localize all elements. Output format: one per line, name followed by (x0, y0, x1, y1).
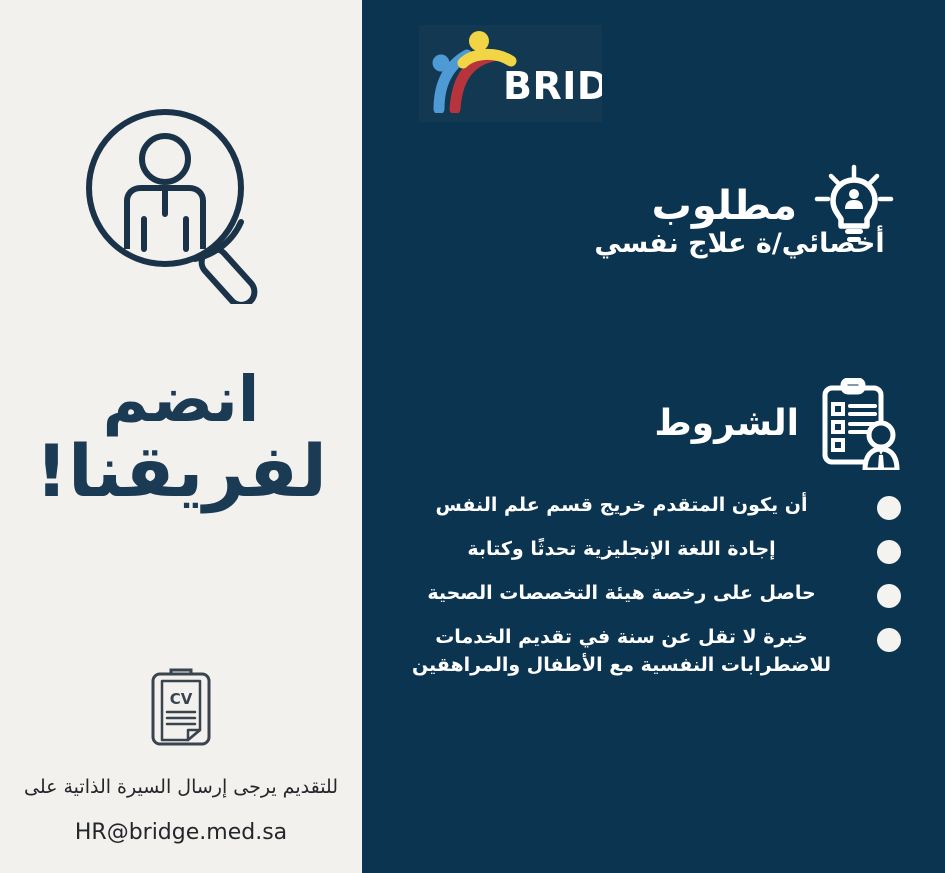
list-item: إجادة اللغة الإنجليزية تحدثًا وكتابة (386, 536, 901, 564)
conditions-list: أن يكون المتقدم خريج قسم علم النفس إجادة… (362, 492, 945, 695)
condition-text: خبرة لا تقل عن سنة في تقديم الخدمات للاض… (386, 624, 857, 679)
clipboard-person-icon (815, 378, 905, 470)
magnifier-person-icon (75, 104, 287, 304)
cv-document-icon: CV (150, 668, 212, 746)
bullet-dot-icon (877, 628, 901, 652)
conditions-heading-row: الشروط (362, 378, 945, 470)
bridge-logo: BRIDGE (419, 25, 602, 122)
wanted-title: مطلوب (652, 186, 797, 226)
condition-text: إجادة اللغة الإنجليزية تحدثًا وكتابة (386, 536, 857, 564)
contact-email[interactable]: HR@bridge.med.sa (0, 820, 362, 845)
condition-text: أن يكون المتقدم خريج قسم علم النفس (386, 492, 857, 520)
bullet-dot-icon (877, 496, 901, 520)
list-item: حاصل على رخصة هيئة التخصصات الصحية (386, 580, 901, 608)
apply-instruction: للتقديم يرجى إرسال السيرة الذاتية على (0, 776, 362, 798)
join-headline-line2: لفريقنا! (18, 435, 344, 507)
join-headline-line1: انضم (18, 368, 344, 431)
bullet-dot-icon (877, 540, 901, 564)
list-item: أن يكون المتقدم خريج قسم علم النفس (386, 492, 901, 520)
wanted-subtitle: أخصائي/ة علاج نفسي (362, 228, 945, 259)
conditions-title: الشروط (654, 406, 799, 442)
logo-wordmark: BRIDGE (503, 67, 602, 105)
right-light-panel: انضم لفريقنا! CV للتقديم يرجى إرسال السي… (0, 0, 362, 873)
bullet-dot-icon (877, 584, 901, 608)
svg-text:CV: CV (170, 690, 193, 708)
recruitment-poster: BRIDGE مطلوب أخصائي/ة علاج نفسي (0, 0, 945, 873)
condition-text: حاصل على رخصة هيئة التخصصات الصحية (386, 580, 857, 608)
list-item: خبرة لا تقل عن سنة في تقديم الخدمات للاض… (386, 624, 901, 679)
left-navy-panel: BRIDGE مطلوب أخصائي/ة علاج نفسي (362, 0, 945, 873)
join-headline: انضم لفريقنا! (0, 368, 362, 507)
